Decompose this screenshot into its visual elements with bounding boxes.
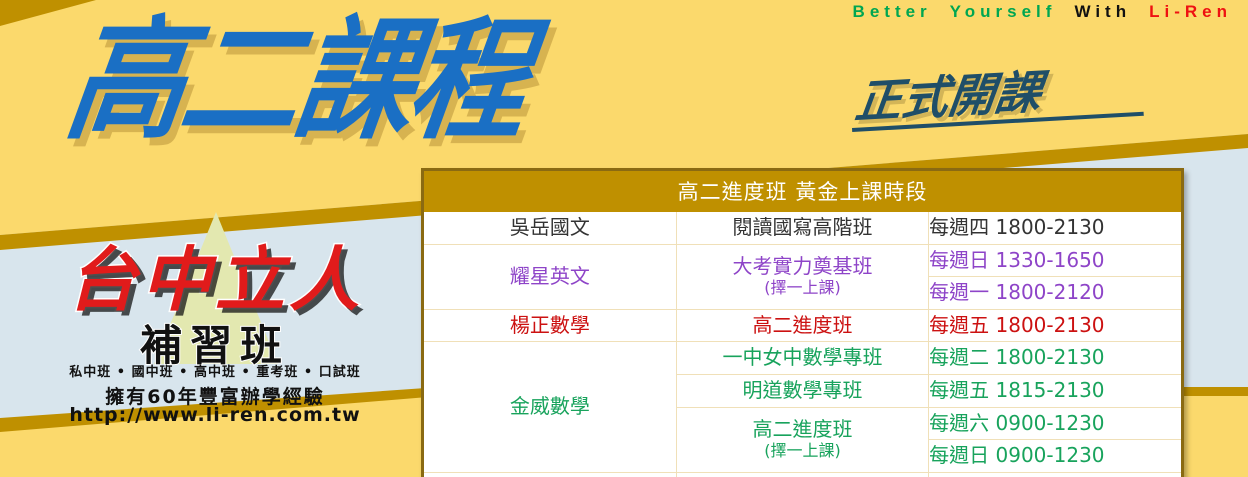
schedule-table-body: 吳岳國文閱讀國寫高階班每週四 1800-2130耀星英文大考實力奠基班(擇一上課… [424,212,1181,477]
promo-banner: BetterYourselfWithLi-Ren 高二課程 正式開課 台中立人 … [0,0,1248,477]
page-title: 高二課程 [59,14,534,146]
cell-course: 大考實力奠基班(擇一上課) [676,244,928,309]
cell-time: 每週四 1800-2130 [929,212,1181,244]
table-header-row: 高二進度班 黃金上課時段 [424,171,1181,212]
tagline-word-yourself: Yourself [950,2,1057,21]
cell-teacher: 楊正數學 [424,309,676,342]
schedule-table: 高二進度班 黃金上課時段 吳岳國文閱讀國寫高階班每週四 1800-2130耀星英… [424,171,1181,477]
schedule-table-container: 高二進度班 黃金上課時段 吳岳國文閱讀國寫高階班每週四 1800-2130耀星英… [421,168,1184,477]
table-header-title: 高二進度班 黃金上課時段 [424,171,1181,212]
tagline-word-liren: Li-Ren [1149,2,1232,21]
cell-course-note: (擇一上課) [677,279,928,298]
logo-name: 台中立人 [30,224,400,325]
cell-time: 每週五 1800-2130 [929,309,1181,342]
logo-website-url[interactable]: http://www.li-ren.com.tw [30,404,400,426]
cell-course: 高二進度班 [676,472,928,477]
tagline-word-better: Better [853,2,932,21]
cell-time: 每週二 1800-2130 [929,342,1181,375]
table-row: 金威數學一中女中數學專班每週二 1800-2130 [424,342,1181,375]
tagline: BetterYourselfWithLi-Ren [853,2,1232,22]
cell-course: 高二進度班 [676,309,928,342]
table-row: 耀星英文大考實力奠基班(擇一上課)每週日 1330-1650 [424,244,1181,277]
cell-teacher: 吳岳國文 [424,212,676,244]
cell-course-note: (擇一上課) [677,442,928,461]
cell-course: 高二進度班(擇一上課) [676,407,928,472]
cell-time: 每週五 1815-2130 [929,374,1181,407]
table-row: 陳碩物理高二進度班每週三 1800-2130 [424,472,1181,477]
cell-course: 一中女中數學專班 [676,342,928,375]
cell-time: 每週日 1330-1650 [929,244,1181,277]
cell-time: 每週六 0900-1230 [929,407,1181,440]
cell-course: 閱讀國寫高階班 [676,212,928,244]
cell-time: 每週一 1800-2120 [929,277,1181,310]
cell-teacher: 陳碩物理 [424,472,676,477]
cell-teacher: 金威數學 [424,342,676,472]
cell-time: 每週日 0900-1230 [929,440,1181,473]
cell-teacher: 耀星英文 [424,244,676,309]
logo: 台中立人 補習班 私中班 • 國中班 • 高中班 • 重考班 • 口試班 擁有6… [24,212,404,427]
cell-course: 明道數學專班 [676,374,928,407]
table-row: 吳岳國文閱讀國寫高階班每週四 1800-2130 [424,212,1181,244]
tagline-word-with: With [1074,2,1131,21]
table-row: 楊正數學高二進度班每週五 1800-2130 [424,309,1181,342]
logo-class-list: 私中班 • 國中班 • 高中班 • 重考班 • 口試班 [30,361,400,380]
cell-time: 每週三 1800-2130 [929,472,1181,477]
